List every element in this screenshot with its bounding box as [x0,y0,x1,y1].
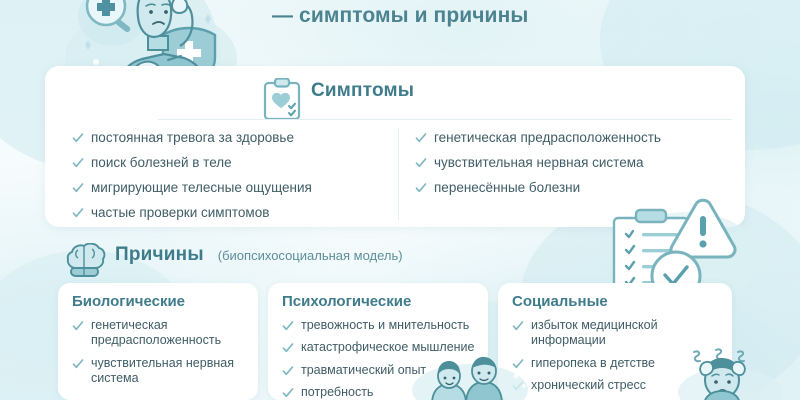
symptoms-right-column: генетическая предрасположенность чувстви… [415,130,735,205]
check-icon [282,387,294,399]
symptoms-title: Симптомы [311,80,414,102]
list-item: генетическая предрасположенность [415,130,735,146]
causes-heading: Причины (биопсихосоциальная модель) [62,244,403,266]
list-item-label: чувствительная нервная система [434,155,644,171]
list-item-label: гиперопека в детстве [531,356,655,371]
check-icon [415,182,427,194]
page-title: — симптомы и причины [272,4,702,28]
causes-card-title: Психологические [282,293,488,310]
check-icon [415,132,427,144]
causes-title: Причины [115,244,204,266]
list-item: генетическая предрасположенность [72,318,248,349]
list-item-label: перенесённые болезни [434,180,580,196]
causes-card-title: Биологические [72,293,258,310]
list-item-label: тревожность и мнительность [301,318,469,333]
list-item: мигрирующие телесные ощущения [72,180,392,196]
check-icon [72,320,84,332]
check-icon [72,358,84,370]
list-item-label: потребность [301,385,373,400]
symptoms-left-column: постоянная тревога за здоровье поиск бол… [72,130,392,230]
causes-subtitle: (биопсихосоциальная модель) [218,248,403,263]
list-item-label: хронический стресс [531,378,646,393]
list-item: перенесённые болезни [415,180,735,196]
symptoms-column-divider [398,128,399,220]
causes-card-title: Социальные [512,293,732,310]
list-item-label: генетическая предрасположенность [91,318,248,349]
symptoms-divider [158,119,732,120]
list-item-label: постоянная тревога за здоровье [91,130,294,146]
list-item: постоянная тревога за здоровье [72,130,392,146]
check-icon [72,207,84,219]
list-item-label: генетическая предрасположенность [434,130,661,146]
check-icon [72,182,84,194]
warning-triangle-icon [671,200,735,257]
causes-card-list: генетическая предрасположенность чувстви… [72,318,248,386]
check-icon [282,342,294,354]
check-icon [282,365,294,377]
list-item: чувствительная нервная система [72,356,248,387]
causes-card-biological: Биологические генетическая предрасположе… [58,283,258,400]
list-item-label: чувствительная нервная система [91,356,248,387]
check-icon [512,320,524,332]
symptoms-heading: Симптомы [262,80,414,102]
list-item: избыток медицинской информации [512,318,722,349]
list-item: тревожность и мнительность [282,318,478,333]
list-item: поиск болезней в теле [72,155,392,171]
list-item-label: поиск болезней в теле [91,155,232,171]
check-icon [282,320,294,332]
check-icon [72,157,84,169]
check-icon [415,157,427,169]
check-icon [72,132,84,144]
infographic-canvas: — симптомы и причины [0,0,800,400]
couple-illustration [408,352,543,400]
stressed-woman-illustration [672,348,792,400]
list-item-label: избыток медицинской информации [531,318,722,349]
list-item-label: мигрирующие телесные ощущения [91,180,312,196]
list-item: чувствительная нервная система [415,155,735,171]
list-item: частые проверки симптомов [72,205,392,221]
list-item-label: частые проверки симптомов [91,205,269,221]
